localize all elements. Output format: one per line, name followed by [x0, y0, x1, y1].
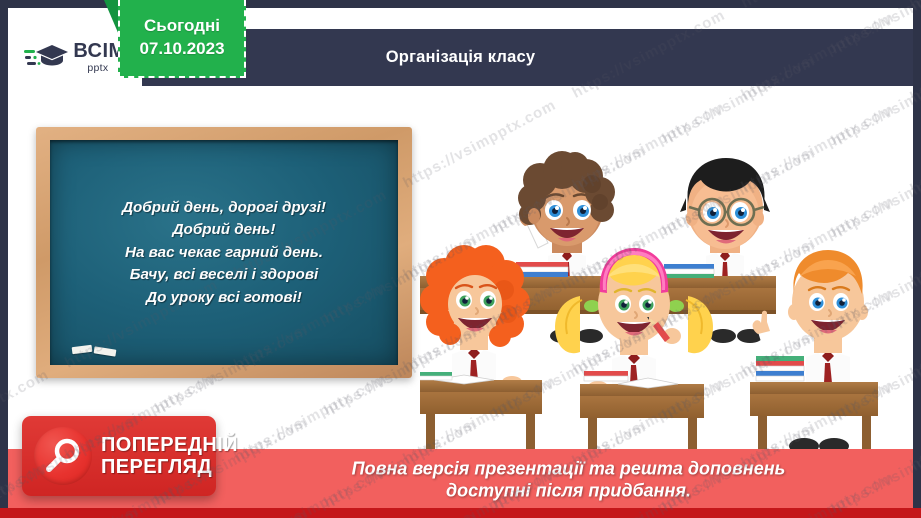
page-title: Організація класу: [386, 48, 535, 67]
purchase-banner-line-1: Повна версія презентації та решта доповн…: [238, 457, 899, 480]
books-stack-front-right: [756, 356, 804, 381]
slide-border-left: [0, 0, 8, 518]
purchase-banner-line-2: доступні після придбання.: [238, 480, 899, 503]
chalkboard-line-5: До уроку всі готові!: [62, 286, 386, 309]
chalkboard-line-2: Добрий день!: [62, 219, 386, 242]
purchase-banner-strip: [0, 508, 921, 518]
child-girl-red-hair: [420, 245, 530, 388]
magnifier-icon: [34, 427, 92, 485]
desk-front-left: [420, 380, 542, 452]
chalkboard-line-1: Добрий день, дорогі друзі!: [62, 196, 386, 219]
brand-suffix: pptx: [87, 63, 108, 74]
graduation-cap-icon: [24, 43, 68, 73]
books-stack-back-left: [516, 262, 568, 277]
date-badge: Сьогодні 07.10.2023: [118, 0, 246, 78]
chalkboard: Добрий день, дорогі друзі! Добрий день! …: [36, 127, 412, 378]
slide-root: Організація класу ВСІМ pptx Сьогодні 07.…: [0, 0, 921, 518]
date-badge-value: 07.10.2023: [139, 38, 224, 61]
books-stack-back-right: [664, 264, 714, 278]
chalkboard-line-3: На вас чекає гарний день.: [62, 241, 386, 264]
preview-badge-line-1: ПОПЕРЕДНІЙ: [101, 435, 238, 455]
chalkboard-text: Добрий день, дорогі друзі! Добрий день! …: [50, 196, 398, 309]
slide-border-right: [913, 0, 921, 518]
chalk-piece-icon: [72, 345, 93, 354]
chalk-piece-icon: [94, 346, 117, 356]
purchase-banner-text: Повна версія презентації та решта доповн…: [238, 457, 899, 502]
date-badge-label: Сьогодні: [144, 15, 220, 38]
preview-badge[interactable]: ПОПЕРЕДНІЙ ПЕРЕГЛЯД: [22, 416, 216, 496]
chalkboard-surface: Добрий день, дорогі друзі! Добрий день! …: [50, 140, 398, 365]
preview-badge-line-2: ПЕРЕГЛЯД: [101, 457, 238, 477]
preview-badge-text: ПОПЕРЕДНІЙ ПЕРЕГЛЯД: [101, 435, 238, 477]
classroom-illustration: [420, 128, 913, 460]
desk-front-center: [580, 384, 704, 452]
chalkboard-line-4: Бачу, всі веселі і здорові: [62, 264, 386, 287]
